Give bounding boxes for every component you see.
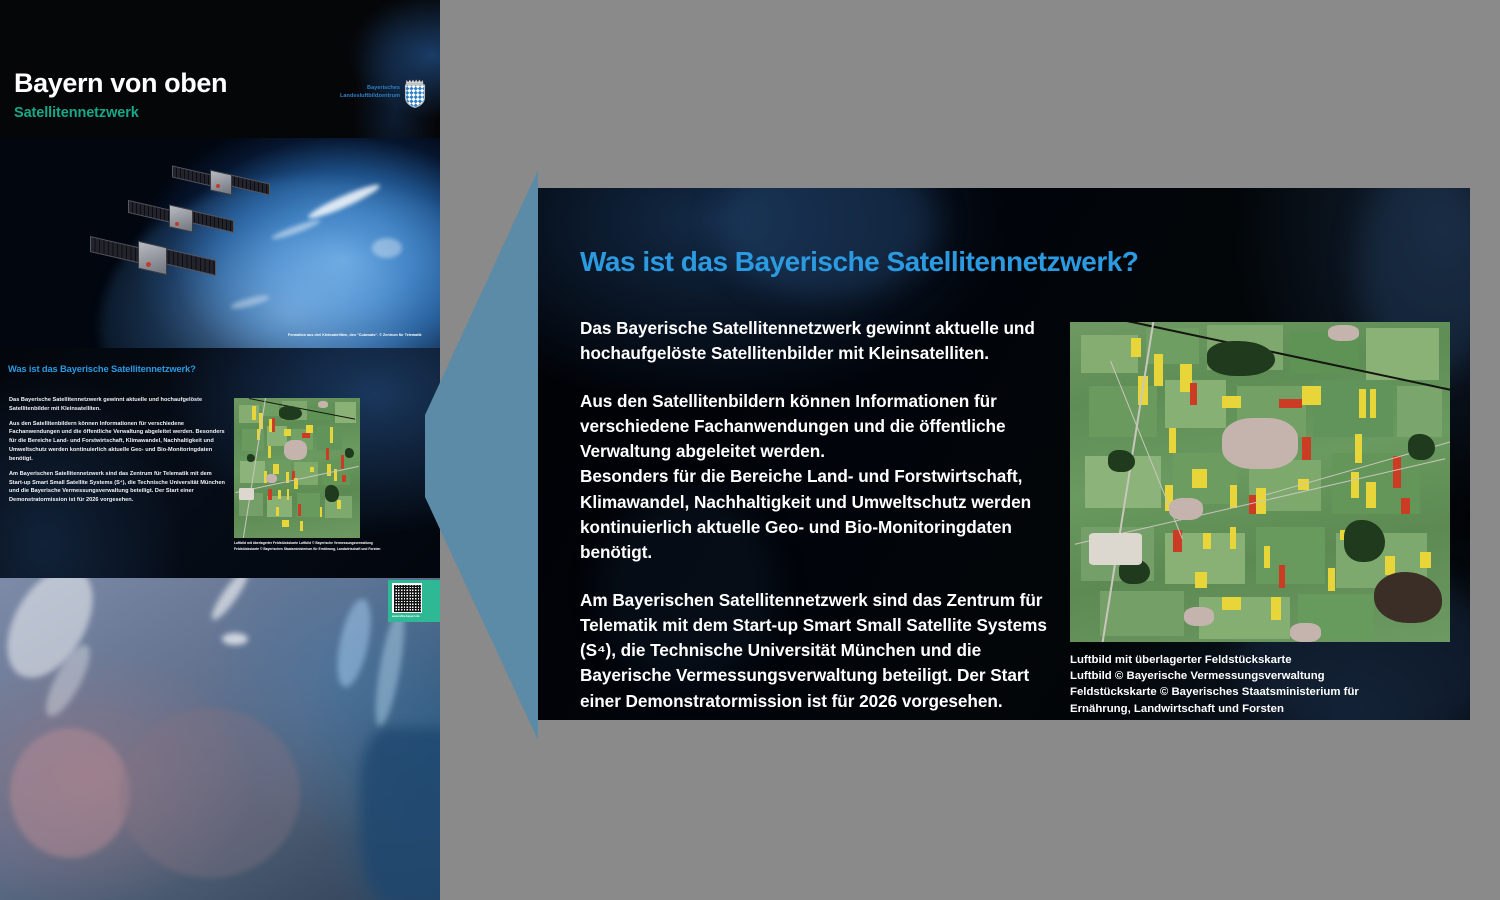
cubesat-icon <box>90 236 218 292</box>
thumbnail-title: Bayern von oben <box>14 70 227 97</box>
earth-surface-photo <box>0 578 440 900</box>
qr-code-label: www.ldbv.bayern.de <box>392 614 420 618</box>
aerial-map-render <box>1070 322 1450 642</box>
qr-code-icon[interactable] <box>392 583 422 613</box>
zoomed-slide-panel[interactable]: Was ist das Bayerische Satellitennetzwer… <box>538 188 1470 720</box>
aerial-map-render <box>234 398 360 538</box>
ldbv-logo-line2: Landesluftbildzentrum <box>340 93 400 101</box>
panel-paragraph: Das Bayerische Satellitennetzwerk gewinn… <box>580 316 1060 367</box>
satellite-formation-photo <box>0 138 440 348</box>
caption-line: Luftbild mit überlagerter Feldstückskart… <box>1070 652 1460 668</box>
thumbnail-slide-heading: Was ist das Bayerische Satellitennetzwer… <box>8 363 196 374</box>
caption-line: Luftbild © Bayerische Vermessungsverwalt… <box>1070 668 1460 684</box>
panel-aerial-image <box>1070 322 1450 642</box>
ldbv-logo: Bayerisches Landesluftbildzentrum <box>340 78 427 108</box>
thumbnail-image-caption: Luftbild mit überlagerter Feldstückskart… <box>234 541 384 552</box>
panel-body-text: Das Bayerische Satellitennetzwerk gewinn… <box>580 316 1060 714</box>
panel-paragraph: Am Bayerischen Satellitennetzwerk sind d… <box>580 588 1060 714</box>
thumbnail-subtitle: Satellitennetzwerk <box>14 106 139 121</box>
cloud-streak <box>372 238 402 258</box>
panel-heading: Was ist das Bayerische Satellitennetzwer… <box>580 246 1138 278</box>
satellite-photo-credit: Formation aus drei Kleinsatelliten, den … <box>288 333 422 337</box>
caption-line: Feldstückskarte © Bayerisches Staatsmini… <box>1070 684 1460 700</box>
thumbnail-aerial-image <box>234 398 360 538</box>
slide-thumbnail[interactable]: Bayern von oben Satellitennetzwerk Bayer… <box>0 0 440 900</box>
header-glow <box>290 0 440 138</box>
ldbv-logo-text: Bayerisches Landesluftbildzentrum <box>340 85 400 100</box>
thumbnail-paragraph: Das Bayerische Satellitennetzwerk gewinn… <box>9 396 227 414</box>
zoom-connector <box>425 170 555 740</box>
panel-paragraph: Aus den Satellitenbildern können Informa… <box>580 389 1060 566</box>
panel-glow <box>718 188 938 298</box>
bavaria-coat-of-arms-icon <box>403 78 427 108</box>
thumbnail-paragraph: Aus den Satellitenbildern können Informa… <box>9 420 227 464</box>
crown-icon <box>406 80 423 85</box>
ldbv-logo-line1: Bayerisches <box>340 85 400 93</box>
thumbnail-slide-body: Das Bayerische Satellitennetzwerk gewinn… <box>9 396 227 511</box>
caption-line: Ernährung, Landwirtschaft und Forsten <box>1070 701 1460 717</box>
panel-image-caption: Luftbild mit überlagerter Feldstückskart… <box>1070 652 1460 717</box>
thumbnail-paragraph: Am Bayerischen Satellitennetzwerk sind d… <box>9 470 227 505</box>
